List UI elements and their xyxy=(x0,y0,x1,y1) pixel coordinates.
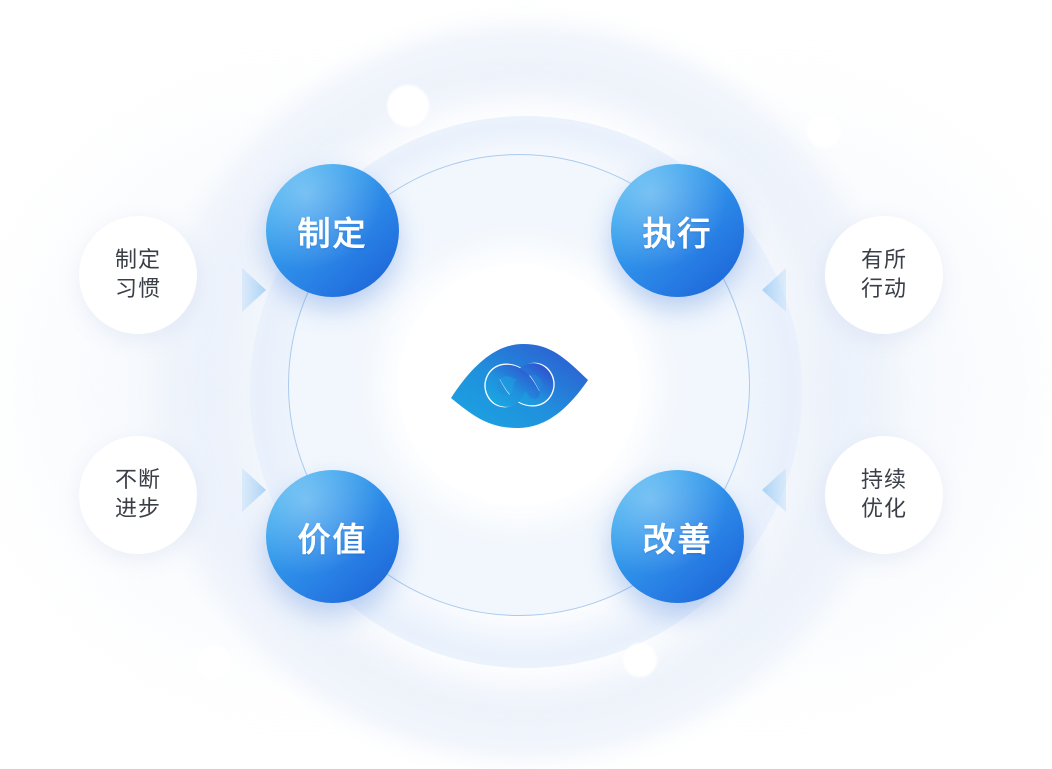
diagram-canvas: 制定 执行 价值 改善 制定 习惯 不断 进步 有所 行动 持续 优化 xyxy=(0,0,1052,769)
cycle-node-execute[interactable]: 执行 xyxy=(611,164,744,297)
decor-dot xyxy=(623,643,657,677)
arrow-left-icon xyxy=(760,264,806,316)
outer-label-optimize-line1: 持续 xyxy=(861,466,907,495)
outer-label-progress-line1: 不断 xyxy=(115,466,161,495)
decor-dot xyxy=(807,114,841,148)
cycle-node-improve[interactable]: 改善 xyxy=(611,470,744,603)
outer-label-progress-line2: 进步 xyxy=(115,495,161,524)
outer-label-habit-line2: 习惯 xyxy=(115,275,161,304)
outer-label-action[interactable]: 有所 行动 xyxy=(825,216,943,334)
cycle-node-improve-label: 改善 xyxy=(643,513,713,561)
cycle-node-execute-label: 执行 xyxy=(643,207,713,255)
decor-dot xyxy=(387,85,429,127)
outer-label-progress[interactable]: 不断 进步 xyxy=(79,436,197,554)
outer-label-habit[interactable]: 制定 习惯 xyxy=(79,216,197,334)
outer-label-action-line2: 行动 xyxy=(861,275,907,304)
cycle-node-value-label: 价值 xyxy=(298,513,368,561)
cycle-node-make[interactable]: 制定 xyxy=(266,164,399,297)
arrow-right-icon xyxy=(222,264,268,316)
arrow-left-icon xyxy=(760,464,806,516)
outer-label-habit-line1: 制定 xyxy=(115,246,161,275)
outer-label-optimize-line2: 优化 xyxy=(861,495,907,524)
outer-label-action-line1: 有所 xyxy=(861,246,907,275)
arrow-right-icon xyxy=(222,464,268,516)
eye-infinity-logo-icon xyxy=(447,336,592,434)
decor-dot xyxy=(197,645,231,679)
cycle-node-make-label: 制定 xyxy=(298,207,368,255)
cycle-node-value[interactable]: 价值 xyxy=(266,470,399,603)
outer-label-optimize[interactable]: 持续 优化 xyxy=(825,436,943,554)
